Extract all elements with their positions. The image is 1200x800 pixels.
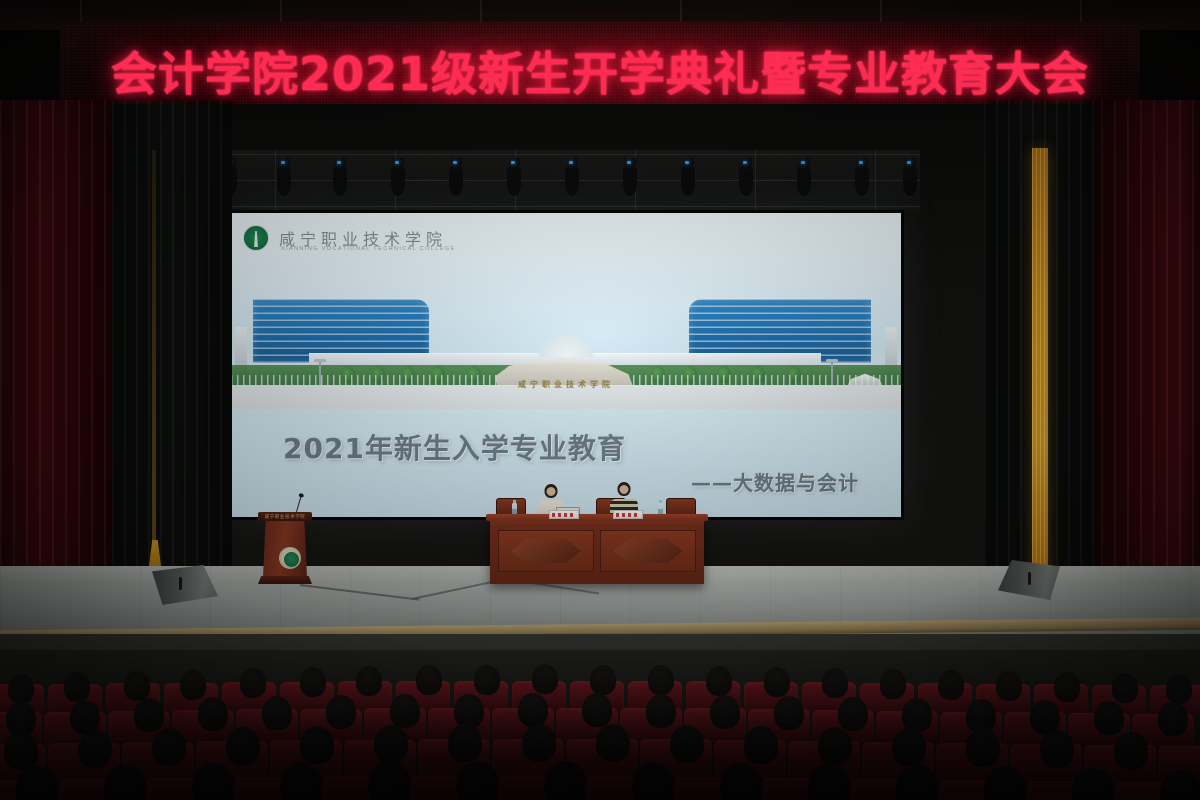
head-table: [490, 518, 704, 584]
audience-head: [632, 762, 674, 800]
slide-subtitle: ——大数据与会计: [691, 467, 859, 496]
speaker-podium: 咸宁职业技术学院: [258, 512, 312, 584]
projection-screen: 咸宁职业技术学院 XIANNING VOCATIONAL TECHNICAL C…: [228, 210, 904, 520]
audience-head: [474, 665, 500, 695]
audience-head: [590, 665, 616, 695]
stage-lamp-icon: [449, 166, 463, 196]
campus-photo: 咸宁职业技术学院: [231, 261, 901, 409]
auditorium-scene: 会计学院2021级新生开学典礼暨专业教育大会 咸宁职业技术学院 XIANN: [0, 0, 1200, 800]
audience-head: [818, 727, 852, 765]
audience-head: [300, 726, 334, 764]
audience-head: [456, 761, 498, 800]
audience-head: [390, 694, 420, 728]
led-banner-text: 会计学院2021级新生开学典礼暨专业教育大会: [60, 38, 1140, 104]
audience-head: [710, 695, 740, 729]
audience-head: [774, 696, 804, 730]
stage-lamp-icon: [333, 166, 347, 196]
stage-lamp-icon: [277, 166, 291, 196]
stage-lamp-icon: [391, 166, 405, 196]
audience-head: [8, 674, 34, 704]
curtain-left-red: [0, 100, 120, 580]
podium-top: 咸宁职业技术学院: [258, 512, 312, 521]
audience-head: [180, 670, 206, 700]
audience-head: [1158, 702, 1188, 736]
audience-head: [966, 729, 1000, 767]
audience-head: [356, 666, 382, 696]
audience-head: [1094, 701, 1124, 735]
audience-head: [454, 694, 484, 728]
audience-head: [544, 761, 586, 800]
stage-lamp-icon: [903, 166, 917, 196]
audience-head: [764, 667, 790, 697]
lighting-truss: [215, 150, 920, 212]
name-plate: [613, 510, 643, 519]
college-name-en: XIANNING VOCATIONAL TECHNICAL COLLEGE: [281, 246, 456, 252]
stage-lamp-icon: [507, 166, 521, 196]
table-front-panel: [600, 530, 696, 572]
audience-head: [646, 694, 676, 728]
audience-head: [226, 727, 260, 765]
audience-head: [6, 702, 36, 736]
audience-head: [262, 696, 292, 730]
audience-head: [938, 670, 964, 700]
audience-head: [368, 761, 410, 800]
audience-head: [70, 700, 100, 734]
audience-head: [280, 762, 322, 800]
audience-head: [532, 664, 558, 694]
curtain-right-red: [1088, 100, 1200, 580]
podium-body: [263, 521, 307, 577]
audience-head: [374, 725, 408, 763]
audience-head: [1166, 674, 1192, 704]
stage-lamp-icon: [739, 166, 753, 196]
audience-head: [134, 698, 164, 732]
curtain-right-gold-band: [1032, 148, 1048, 573]
audience-head: [648, 665, 674, 695]
audience-head: [518, 693, 548, 727]
podium-label: 咸宁职业技术学院: [258, 514, 312, 520]
audience-head: [1114, 732, 1148, 770]
name-plate: [549, 510, 579, 519]
stage-lamp-icon: [797, 166, 811, 196]
audience-head: [706, 666, 732, 696]
audience-head: [124, 671, 150, 701]
presentation-slide: 咸宁职业技术学院 XIANNING VOCATIONAL TECHNICAL C…: [231, 213, 901, 517]
audience-head: [448, 724, 482, 762]
audience-head: [880, 669, 906, 699]
table-front-panel: [498, 530, 594, 572]
audience-head: [822, 668, 848, 698]
audience-head: [902, 698, 932, 732]
podium-base: [258, 576, 312, 584]
audience-head: [582, 693, 612, 727]
monument-inscription: 咸宁职业技术学院: [518, 379, 614, 390]
stage-lamp-icon: [623, 166, 637, 196]
audience-head: [198, 697, 228, 731]
audience-head: [892, 728, 926, 766]
stage-lamp-icon: [681, 166, 695, 196]
audience-seating: [0, 650, 1200, 800]
audience-head: [1112, 673, 1138, 703]
table-top: [486, 514, 708, 521]
audience-head: [326, 695, 356, 729]
audience-head: [416, 665, 442, 695]
audience-head: [838, 697, 868, 731]
college-logo-icon: [243, 225, 269, 251]
audience-head: [4, 732, 38, 770]
audience-head: [240, 668, 266, 698]
podium-emblem-icon: [279, 547, 301, 569]
audience-head: [1054, 672, 1080, 702]
audience-head: [1030, 700, 1060, 734]
audience-head: [522, 724, 556, 762]
led-banner-panel: 会计学院2021级新生开学典礼暨专业教育大会: [60, 22, 1140, 104]
audience-head: [152, 728, 186, 766]
audience-head: [596, 724, 630, 762]
audience-head: [744, 726, 778, 764]
audience-head: [996, 671, 1022, 701]
audience-head: [670, 725, 704, 763]
audience-head: [966, 699, 996, 733]
audience-head: [64, 672, 90, 702]
stage-lamp-icon: [565, 166, 579, 196]
slide-title: 2021年新生入学专业教育: [283, 427, 626, 467]
audience-head: [78, 730, 112, 768]
curtain-left-gold-trim: [152, 150, 156, 570]
curtain-left-dark: [112, 100, 232, 582]
audience-head: [300, 667, 326, 697]
stage-lamp-icon: [855, 166, 869, 196]
audience-head: [1040, 730, 1074, 768]
